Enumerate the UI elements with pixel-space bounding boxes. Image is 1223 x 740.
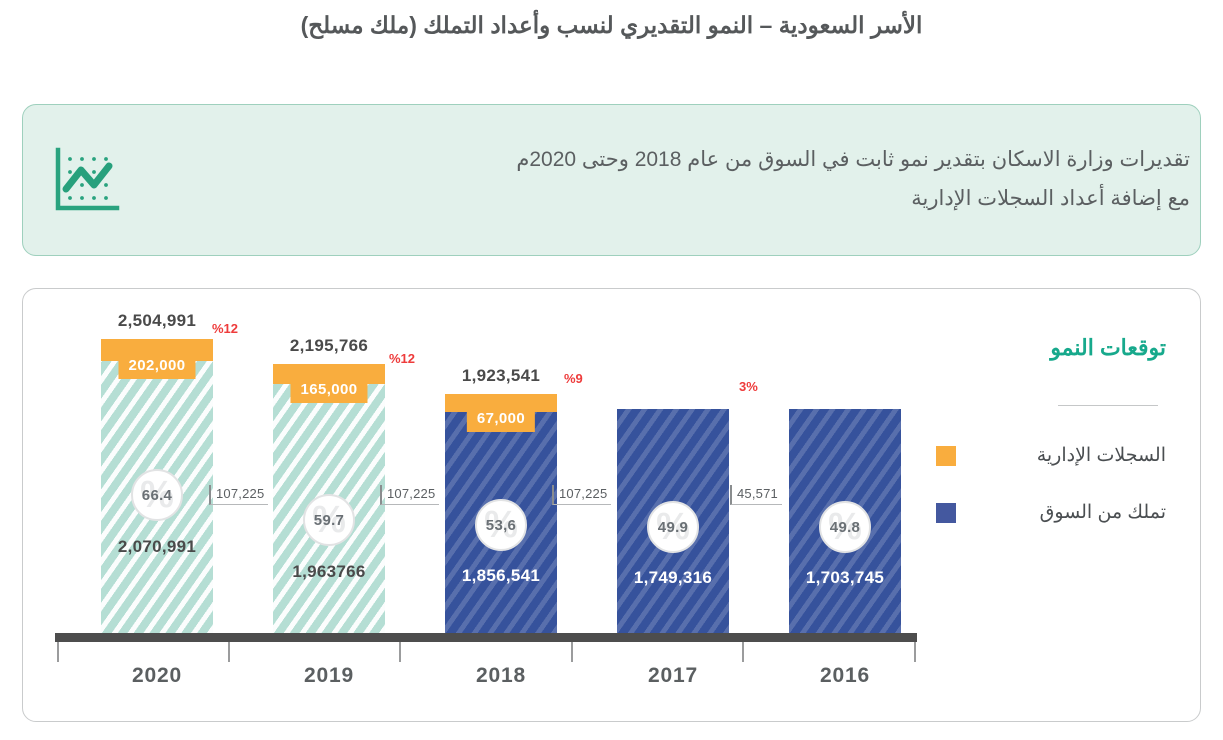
- ownership-percent-value-2016: 49.8: [830, 519, 860, 536]
- bar-total-label-2018: 1,923,541: [462, 366, 540, 386]
- chart-legend: توقعات النمو السجلات الإدارية تملك من ال…: [936, 335, 1166, 558]
- axis-tick: [571, 642, 573, 662]
- axis-tick: [399, 642, 401, 662]
- bar-group-2020[interactable]: 2,504,991 202,000 % 66.4 2,070,991: [101, 339, 213, 633]
- bar-stack-2020: 202,000 % 66.4 2,070,991: [101, 339, 213, 633]
- note-line-1: تقديرات وزارة الاسكان بتقدير نمو ثابت في…: [211, 141, 1190, 180]
- bar-stack-2016: % 49.8 1,703,745: [789, 409, 901, 633]
- bar-total-label-2020: 2,504,991: [118, 311, 196, 331]
- axis-tick: [914, 642, 916, 662]
- bar-stack-2018: 67,000 % 53,6 1,856,541: [445, 394, 557, 633]
- axis-year-label-2019: 2019: [273, 664, 385, 688]
- line-chart-icon: [23, 144, 151, 216]
- note-line-2: مع إضافة أعداد السجلات الإدارية: [211, 180, 1190, 219]
- growth-percent-2017-2016: 3%: [739, 379, 758, 394]
- market-value-label-2016: 1,703,745: [806, 568, 884, 588]
- axis-tick: [742, 642, 744, 662]
- page-title: الأسر السعودية – النمو التقديري لنسب وأع…: [0, 0, 1223, 39]
- chart-card: 2,504,991 202,000 % 66.4 2,070,991 2020 …: [22, 288, 1201, 722]
- market-value-label-2018: 1,856,541: [462, 566, 540, 586]
- delta-label-2020-2019: 107,225: [209, 485, 268, 505]
- axis-year-label-2018: 2018: [445, 664, 557, 688]
- ownership-percent-value-2017: 49.9: [658, 519, 688, 536]
- ownership-percent-bubble-2020: % 66.4: [131, 469, 183, 521]
- market-value-label-2019: 1,963766: [292, 562, 365, 582]
- delta-label-2017-2016: 45,571: [730, 485, 782, 505]
- bar-stack-2019: 165,000 % 59.7 1,963766: [273, 364, 385, 633]
- growth-percent-2020-2019: %12: [212, 321, 238, 336]
- legend-item-market[interactable]: تملك من السوق: [936, 501, 1166, 524]
- bar-group-2016[interactable]: % 49.8 1,703,745: [789, 409, 901, 633]
- axis-year-label-2017: 2017: [617, 664, 729, 688]
- legend-swatch-records-icon: [936, 446, 956, 466]
- bar-group-2017[interactable]: % 49.9 1,749,316: [617, 409, 729, 633]
- ownership-percent-bubble-2019: % 59.7: [303, 494, 355, 546]
- methodology-note-card: تقديرات وزارة الاسكان بتقدير نمو ثابت في…: [22, 104, 1201, 256]
- methodology-note-text: تقديرات وزارة الاسكان بتقدير نمو ثابت في…: [151, 141, 1200, 219]
- records-value-chip-2018: 67,000: [467, 406, 535, 432]
- records-value-chip-2019: 165,000: [290, 377, 367, 403]
- ownership-percent-value-2019: 59.7: [314, 512, 344, 529]
- ownership-percent-value-2020: 66.4: [142, 487, 172, 504]
- growth-percent-2018-2017: %9: [564, 371, 583, 386]
- bar-stack-2017: % 49.9 1,749,316: [617, 409, 729, 633]
- legend-item-records[interactable]: السجلات الإدارية: [936, 444, 1166, 467]
- market-value-label-2017: 1,749,316: [634, 568, 712, 588]
- bar-total-label-2019: 2,195,766: [290, 336, 368, 356]
- ownership-percent-bubble-2018: % 53,6: [475, 499, 527, 551]
- legend-divider: [1058, 405, 1158, 406]
- chart-axis-line: [55, 633, 917, 642]
- bar-chart-plot: 2,504,991 202,000 % 66.4 2,070,991 2020 …: [23, 289, 933, 723]
- delta-label-2018-2017: 107,225: [552, 485, 611, 505]
- axis-year-label-2016: 2016: [789, 664, 901, 688]
- axis-tick: [228, 642, 230, 662]
- delta-label-2019-2018: 107,225: [380, 485, 439, 505]
- ownership-percent-bubble-2017: % 49.9: [647, 501, 699, 553]
- legend-item-records-label: السجلات الإدارية: [972, 444, 1166, 467]
- legend-item-market-label: تملك من السوق: [972, 501, 1166, 524]
- ownership-percent-value-2018: 53,6: [486, 517, 516, 534]
- bar-group-2018[interactable]: 1,923,541 67,000 % 53,6 1,856,541: [445, 394, 557, 633]
- bar-group-2019[interactable]: 2,195,766 165,000 % 59.7 1,963766: [273, 364, 385, 633]
- records-value-chip-2020: 202,000: [118, 353, 195, 379]
- axis-tick: [57, 642, 59, 662]
- market-value-label-2020: 2,070,991: [118, 537, 196, 557]
- axis-year-label-2020: 2020: [101, 664, 213, 688]
- legend-swatch-market-icon: [936, 503, 956, 523]
- legend-title: توقعات النمو: [936, 335, 1166, 361]
- ownership-percent-bubble-2016: % 49.8: [819, 501, 871, 553]
- growth-percent-2019-2018: %12: [389, 351, 415, 366]
